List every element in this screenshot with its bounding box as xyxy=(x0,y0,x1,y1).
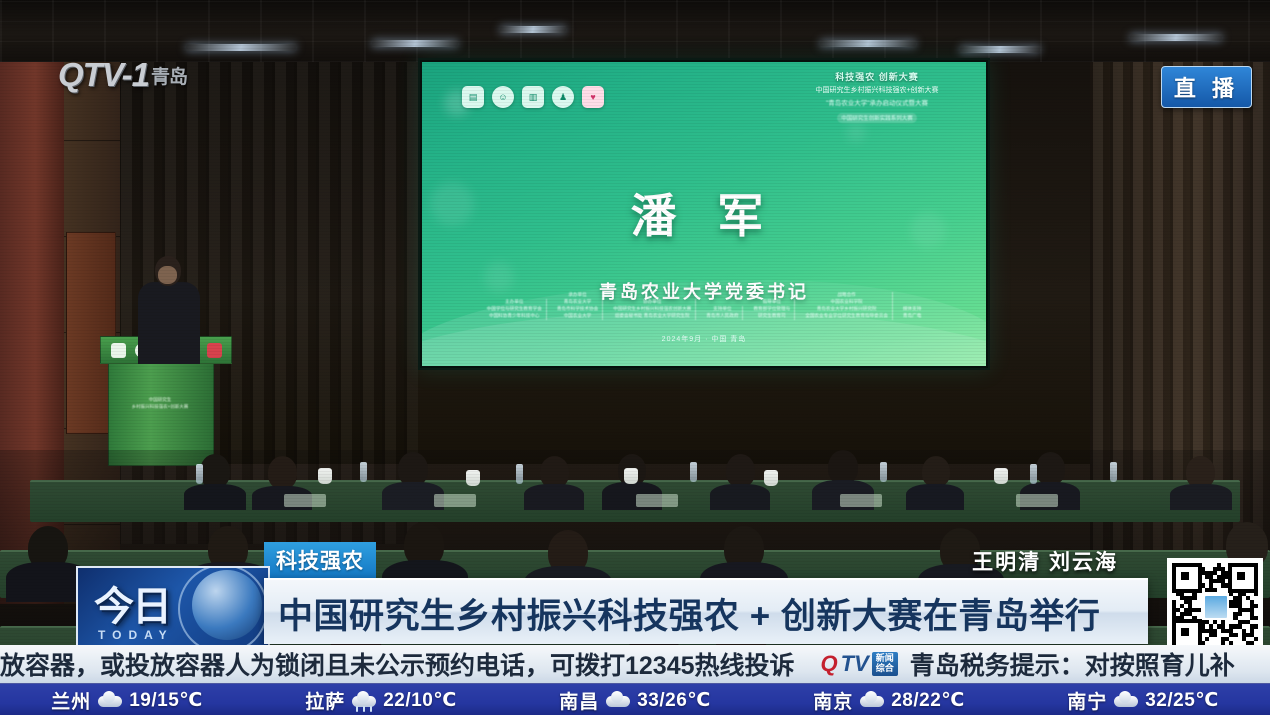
book-icon: ▥ xyxy=(522,86,544,108)
ceiling-light xyxy=(819,40,917,47)
presentation-screen: ▤ ☺ ▥ ♟ ♥ 科技强农 创新大赛 中国研究生乡村振兴科技强农+创新大赛 "… xyxy=(418,58,990,370)
slide-date: 2024年9月 · 中国 青岛 xyxy=(422,334,986,344)
sponsor-item: 承办单位青岛农业大学青岛市科学技术协会中国农业大学 xyxy=(553,292,603,320)
broadcast-frame: ▤ ☺ ▥ ♟ ♥ 科技强农 创新大赛 中国研究生乡村振兴科技强农+创新大赛 "… xyxy=(0,0,1270,715)
globe-icon xyxy=(192,570,262,640)
ticker-message-2: 青岛税务提示：对按照育儿补 xyxy=(910,646,1235,682)
headline-text: 中国研究生乡村振兴科技强农 + 创新大赛在青岛举行 xyxy=(278,588,1138,639)
qtv-tv-icon: TV xyxy=(841,651,869,677)
qr-code[interactable] xyxy=(1167,558,1263,654)
cloudy-icon xyxy=(98,692,122,709)
live-badge: 直 播 xyxy=(1161,66,1252,108)
weather-city: 拉萨 22/10℃ xyxy=(305,687,457,714)
news-ticker: 放容器，或投放容器人为锁闭且未公示预约电话，可拨打12345热线投诉 Q TV … xyxy=(0,645,1270,683)
weather-strip: 兰州 19/15℃ 拉萨 22/10℃ 南昌 33/26℃ 南京 28/22℃ … xyxy=(0,683,1270,715)
heart-icon: ♥ xyxy=(582,86,604,108)
qtv-q-icon: Q xyxy=(821,651,838,677)
weather-city-temp: 22/10℃ xyxy=(383,689,457,712)
weather-city-temp: 19/15℃ xyxy=(129,689,203,712)
cloudy-icon xyxy=(1114,692,1138,709)
weather-city-temp: 33/26℃ xyxy=(637,689,711,712)
sponsor-item: 指导单位教育部学位管理与研究生教育司 xyxy=(749,299,795,320)
weather-city: 南昌 33/26℃ xyxy=(559,687,711,714)
speaker-figure xyxy=(138,282,200,364)
weather-city-temp: 32/25℃ xyxy=(1145,689,1219,712)
sponsor-item: 支持单位青岛市人民政府 xyxy=(702,306,743,320)
sponsor-item: 协办单位中国研究生乡村振兴科技强农创新大赛组委会秘书处 青岛农业大学研究生院 xyxy=(609,299,696,320)
category-tag: 科技强农 xyxy=(264,542,376,578)
reporter-credits: 王明清 刘云海 xyxy=(972,546,1118,576)
ceiling-light xyxy=(185,44,297,51)
event-title-line4: 中国研究生创新实践系列大赛 xyxy=(837,113,917,123)
podium-label: 中国研究生乡村振兴科技强农+创新大赛 xyxy=(118,396,202,410)
ceiling-light xyxy=(371,40,459,47)
slide-event-block: 科技强农 创新大赛 中国研究生乡村振兴科技强农+创新大赛 "青岛农业大学"承办启… xyxy=(782,70,972,125)
ticker-source-logo: Q TV 新闻综合 xyxy=(821,651,898,677)
weather-city: 南宁 32/25℃ xyxy=(1067,687,1219,714)
sponsor-item: 战略合作中国农业科学院青岛农业大学乡村振兴研究院全国农业专业学位研究生教育指导委… xyxy=(801,292,893,320)
event-title-line3: "青岛农业大学"承办启动仪式暨大赛 xyxy=(782,97,972,107)
ticker-source-badge: 新闻综合 xyxy=(872,652,898,676)
program-logo-en: TODAY xyxy=(98,628,174,642)
event-title-line1: 科技强农 创新大赛 xyxy=(782,70,972,83)
trophy-icon: ♟ xyxy=(552,86,574,108)
weather-city: 兰州 19/15℃ xyxy=(51,687,203,714)
smiley-icon: ☺ xyxy=(492,86,514,108)
channel-logo-text: QTV-1 xyxy=(58,56,149,94)
cloudy-icon xyxy=(606,692,630,709)
ceiling-light xyxy=(1129,34,1223,41)
weather-city-name: 兰州 xyxy=(51,687,91,714)
slide-icon-row: ▤ ☺ ▥ ♟ ♥ xyxy=(462,86,604,108)
speaker-face xyxy=(158,266,177,284)
event-title-line2: 中国研究生乡村振兴科技强农+创新大赛 xyxy=(782,85,972,95)
headline-bar: 中国研究生乡村振兴科技强农 + 创新大赛在青岛举行 xyxy=(264,578,1148,644)
document-icon: ▤ xyxy=(462,86,484,108)
ceiling xyxy=(0,0,1270,62)
weather-city-temp: 28/22℃ xyxy=(891,689,965,712)
ceiling-light xyxy=(499,26,567,33)
sponsor-item: 主办单位中国学位与研究生教育学会中国科协青少年科技中心 xyxy=(483,299,547,320)
podium-logo-icon xyxy=(207,343,222,358)
ticker-message: 放容器，或投放容器人为锁闭且未公示预约电话，可拨打12345热线投诉 xyxy=(0,646,795,682)
weather-city: 南京 28/22℃ xyxy=(813,687,965,714)
program-logo: 今日 TODAY xyxy=(76,566,270,648)
qr-center-logo xyxy=(1203,594,1229,620)
ceiling-light xyxy=(959,46,1041,53)
program-logo-cn: 今日 xyxy=(94,574,170,632)
sponsor-item: 媒体支持青岛广电 xyxy=(899,306,925,320)
cloudy-icon xyxy=(860,692,884,709)
weather-city-name: 南京 xyxy=(813,687,853,714)
weather-city-name: 拉萨 xyxy=(305,687,345,714)
podium-logo-icon xyxy=(111,343,126,358)
slide-sponsor-row: 主办单位中国学位与研究生教育学会中国科协青少年科技中心 承办单位青岛农业大学青岛… xyxy=(444,292,964,320)
slide-speaker-name: 潘 军 xyxy=(422,180,986,246)
weather-city-name: 南昌 xyxy=(559,687,599,714)
weather-city-name: 南宁 xyxy=(1067,687,1107,714)
channel-logo: QTV-1 青岛 xyxy=(58,56,187,94)
rain-icon xyxy=(352,692,376,709)
channel-logo-cn: 青岛 xyxy=(151,62,187,89)
